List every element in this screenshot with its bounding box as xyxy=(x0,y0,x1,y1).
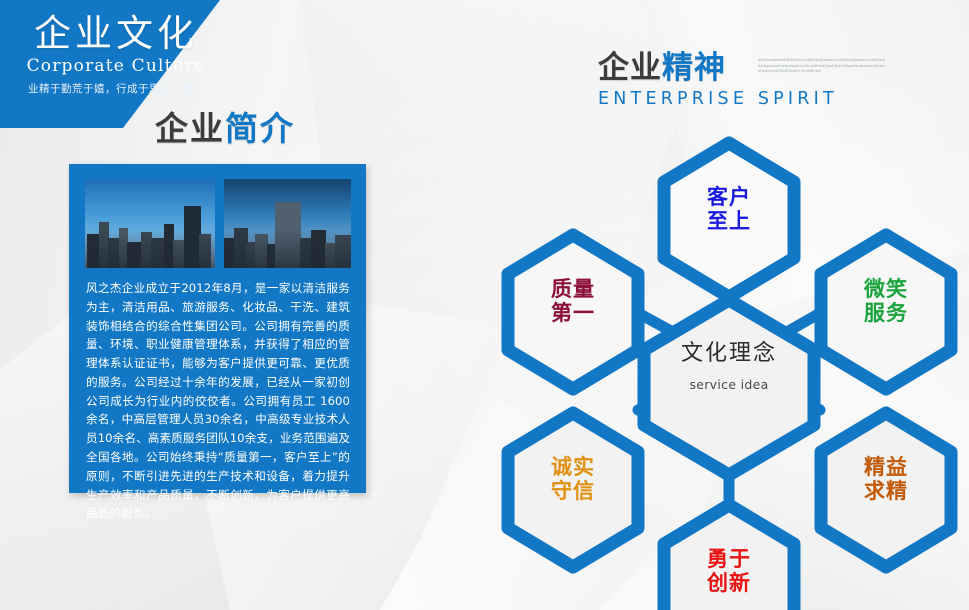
spirit-micro-text: dfdsfjsdofwefdfdsklfewcnsdkjfdksfjasdofv… xyxy=(758,58,886,75)
banner-subtitle: 业精于勤荒于嬉，行成于思毁于随。 xyxy=(0,81,232,96)
photo-haze xyxy=(85,230,215,268)
header-banner-text: 企业文化 Corporate Culture 业精于勤荒于嬉，行成于思毁于随。 xyxy=(0,0,232,96)
banner-title-cn: 企业文化 xyxy=(0,14,232,54)
intro-card: 风之杰企业成立于2012年8月，是一家以清洁服务为主，清洁用品、旅游服务、化妆品… xyxy=(69,164,366,493)
intro-heading-blue: 简介 xyxy=(225,109,295,148)
intro-heading-dark: 企业 xyxy=(155,109,225,148)
intro-heading: 企业简介 xyxy=(155,112,295,145)
spirit-heading: 企业精神 ENTERPRISE SPIRIT dfdsfjsdofwefdfds… xyxy=(598,52,898,109)
city-skyline-photo-1 xyxy=(85,179,215,268)
photo-haze xyxy=(224,230,351,268)
hexagon-diagram xyxy=(490,110,969,610)
banner-title-en: Corporate Culture xyxy=(0,56,232,76)
photo-strip xyxy=(85,179,351,268)
city-skyline-photo-2 xyxy=(224,179,351,268)
spirit-heading-en: ENTERPRISE SPIRIT xyxy=(598,89,898,109)
hexagon-quality-first[interactable] xyxy=(508,235,638,389)
hexagon-excellence[interactable] xyxy=(821,413,951,567)
spirit-heading-blue: 精神 xyxy=(662,50,726,86)
spirit-heading-dark: 企业 xyxy=(598,50,662,86)
hexagon-smile-service[interactable] xyxy=(821,235,951,389)
hexagon-customer-first[interactable] xyxy=(664,143,794,297)
hexagon-honest-trust[interactable] xyxy=(508,413,638,567)
intro-paragraph: 风之杰企业成立于2012年8月，是一家以清洁服务为主，清洁用品、旅游服务、化妆品… xyxy=(86,279,350,523)
hexagon-cluster: 客户 至上 微笑 服务 精益 求精 勇于 创新 诚实 守信 质量 第一 文化理念… xyxy=(490,110,969,610)
poster-canvas: 企业文化 Corporate Culture 业精于勤荒于嬉，行成于思毁于随。 … xyxy=(0,0,969,610)
hexagon-brave-innovate[interactable] xyxy=(664,505,794,610)
